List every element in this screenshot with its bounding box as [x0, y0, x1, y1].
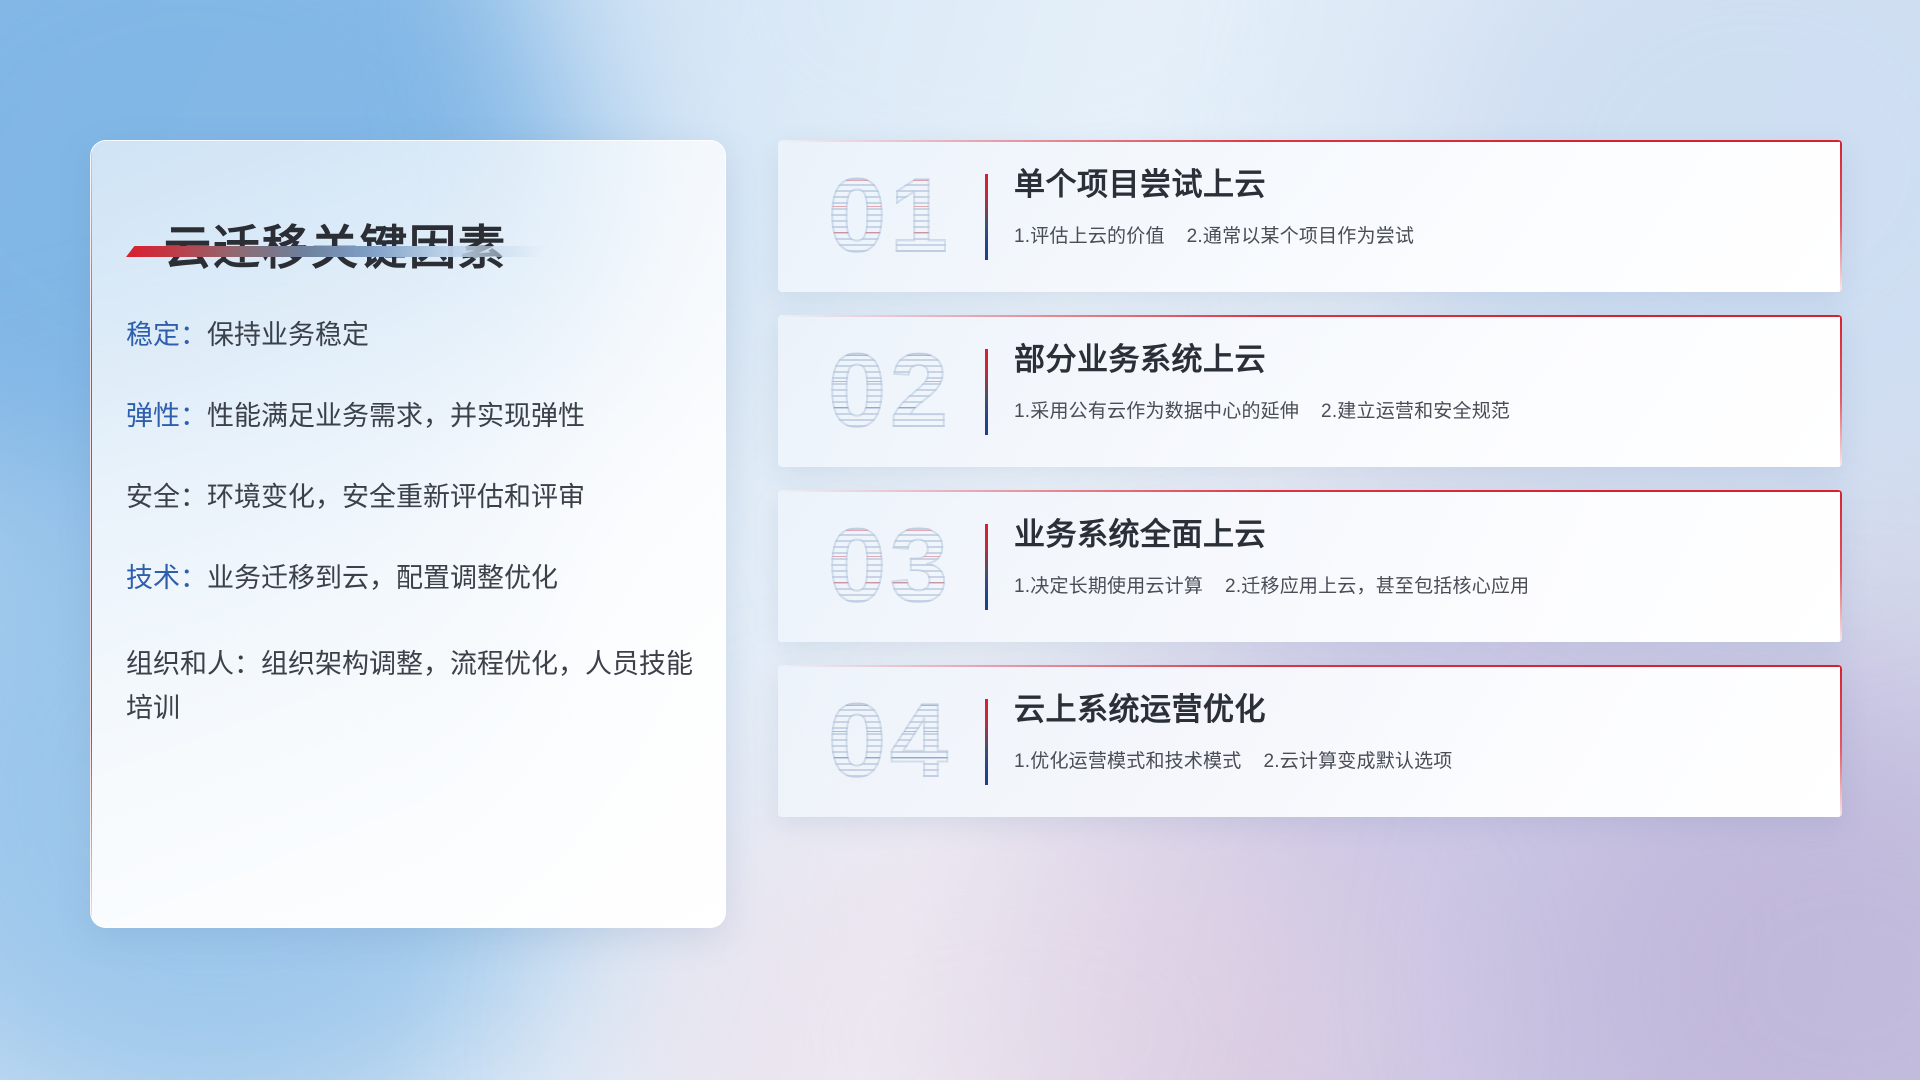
key-factor-label: 组织和人：	[126, 649, 261, 679]
stage-number-red-tint: 02	[800, 329, 980, 453]
card-subtitle: 1.决定长期使用云计算2.迁移应用上云，甚至包括核心应用	[1014, 571, 1812, 598]
key-factors-panel: 云迁移关键因素 稳定：保持业务稳定弹性：性能满足业务需求，并实现弹性安全：环境变…	[90, 140, 726, 928]
card-point-1: 1.决定长期使用云计算	[1014, 576, 1203, 597]
key-factor-value: 环境变化，安全重新评估和评审	[207, 482, 585, 512]
stage-number-red-tint: 01	[800, 154, 980, 278]
card-title: 云上系统运营优化	[1014, 691, 1812, 728]
stage-number-red-tint: 03	[800, 504, 980, 628]
card-divider-bar	[985, 349, 988, 435]
key-factor-row: 稳定：保持业务稳定	[126, 320, 698, 352]
key-factor-value: 业务迁移到云，配置调整优化	[207, 563, 558, 593]
card-point-1: 1.优化运营模式和技术模式	[1014, 751, 1241, 772]
stage-card[interactable]: 0101单个项目尝试上云1.评估上云的价值2.通常以某个项目作为尝试	[778, 140, 1842, 292]
card-point-2: 2.云计算变成默认选项	[1263, 751, 1452, 772]
title-underline-rule	[126, 246, 546, 257]
card-content: 部分业务系统上云1.采用公有云作为数据中心的延伸2.建立运营和安全规范	[1014, 341, 1812, 423]
card-title: 单个项目尝试上云	[1014, 166, 1812, 203]
card-content: 单个项目尝试上云1.评估上云的价值2.通常以某个项目作为尝试	[1014, 166, 1812, 248]
card-content: 云上系统运营优化1.优化运营模式和技术模式2.云计算变成默认选项	[1014, 691, 1812, 773]
card-title: 部分业务系统上云	[1014, 341, 1812, 378]
key-factor-row: 技术：业务迁移到云，配置调整优化	[126, 563, 698, 595]
key-factor-label: 技术：	[126, 563, 207, 593]
key-factor-label: 安全：	[126, 482, 207, 512]
card-top-accent-line	[778, 140, 1842, 142]
card-subtitle: 1.采用公有云作为数据中心的延伸2.建立运营和安全规范	[1014, 396, 1812, 423]
card-divider-bar	[985, 699, 988, 785]
card-right-accent-line	[1840, 490, 1842, 642]
stage-card[interactable]: 0404云上系统运营优化1.优化运营模式和技术模式2.云计算变成默认选项	[778, 665, 1842, 817]
migration-stage-cards: 0101单个项目尝试上云1.评估上云的价值2.通常以某个项目作为尝试0202部分…	[778, 140, 1842, 840]
page-title: 云迁移关键因素	[164, 209, 507, 278]
key-factor-label: 弹性：	[126, 401, 207, 431]
card-top-accent-line	[778, 665, 1842, 667]
card-point-1: 1.采用公有云作为数据中心的延伸	[1014, 401, 1299, 422]
key-factor-value: 保持业务稳定	[207, 320, 369, 350]
card-content: 业务系统全面上云1.决定长期使用云计算2.迁移应用上云，甚至包括核心应用	[1014, 516, 1812, 598]
card-divider-bar	[985, 524, 988, 610]
card-subtitle: 1.评估上云的价值2.通常以某个项目作为尝试	[1014, 221, 1812, 248]
key-factor-row: 安全：环境变化，安全重新评估和评审	[126, 482, 698, 514]
card-point-1: 1.评估上云的价值	[1014, 226, 1165, 247]
stage-card[interactable]: 0303业务系统全面上云1.决定长期使用云计算2.迁移应用上云，甚至包括核心应用	[778, 490, 1842, 642]
card-subtitle: 1.优化运营模式和技术模式2.云计算变成默认选项	[1014, 746, 1812, 773]
card-right-accent-line	[1840, 665, 1842, 817]
card-right-accent-line	[1840, 315, 1842, 467]
stage-number-red-tint: 04	[800, 679, 980, 803]
key-factor-row: 组织和人：组织架构调整，流程优化，人员技能培训	[126, 643, 698, 730]
card-top-accent-line	[778, 315, 1842, 317]
card-point-2: 2.通常以某个项目作为尝试	[1187, 226, 1414, 247]
key-factor-row: 弹性：性能满足业务需求，并实现弹性	[126, 401, 698, 433]
card-top-accent-line	[778, 490, 1842, 492]
stage-card[interactable]: 0202部分业务系统上云1.采用公有云作为数据中心的延伸2.建立运营和安全规范	[778, 315, 1842, 467]
key-factor-value: 性能满足业务需求，并实现弹性	[207, 401, 585, 431]
card-divider-bar	[985, 174, 988, 260]
card-right-accent-line	[1840, 140, 1842, 292]
card-point-2: 2.迁移应用上云，甚至包括核心应用	[1225, 576, 1529, 597]
key-factors-list: 稳定：保持业务稳定弹性：性能满足业务需求，并实现弹性安全：环境变化，安全重新评估…	[126, 320, 698, 741]
card-title: 业务系统全面上云	[1014, 516, 1812, 553]
key-factor-label: 稳定：	[126, 320, 207, 350]
card-point-2: 2.建立运营和安全规范	[1321, 401, 1510, 422]
